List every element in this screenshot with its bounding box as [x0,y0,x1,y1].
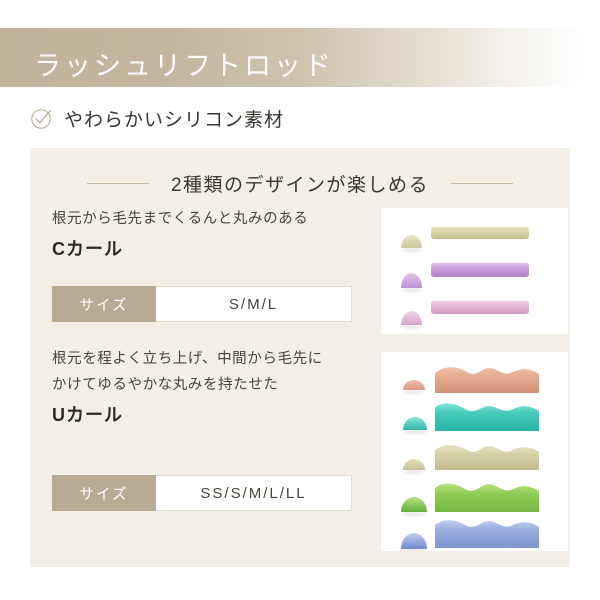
c-curl-desc-line-1: 根元から毛先までくるんと丸みのある [52,206,372,232]
shadow [401,248,423,252]
product-info-graphic: ラッシュリフトロッド やわらかいシリコン素材 2種類のデザインが楽しめる 根元か… [0,0,600,600]
section-title: 2種類のデザインが楽しめる [171,170,429,197]
shadow [401,512,427,516]
shadow [401,549,427,551]
u-curl-size-value: SS/S/M/L/LL [156,475,352,511]
blue-dome [401,533,427,549]
c-curl-size-value: S/M/L [156,286,352,322]
purple-dome [401,273,422,288]
material-label: やわらかいシリコン素材 [64,105,284,132]
teal-rod [435,401,539,431]
design-card: 2種類のデザインが楽しめる 根元から毛先までくるんと丸みのある Cカール サイズ… [30,148,570,567]
u-curl-description: 根元を程よく立ち上げ、中間から毛先に かけてゆるやかな丸みを持たせた Uカール [52,346,372,430]
shadow [403,430,427,434]
shadow [401,325,423,329]
u-curl-size-label: サイズ [52,475,156,511]
c-curl-size-table: サイズ S/M/L [52,286,352,322]
teal-dome [403,417,427,430]
khaki-dome [403,459,425,470]
shadow [401,288,423,292]
c-curl-image-panel [381,208,568,334]
c-curl-description: 根元から毛先までくるんと丸みのある Cカール [52,206,372,264]
c-curl-name: Cカール [52,234,372,264]
material-callout: やわらかいシリコン素材 [30,105,284,132]
shadow [403,390,425,394]
c-curl-size-label: サイズ [52,286,156,322]
pink-dome [401,311,422,325]
u-curl-name: Uカール [52,400,372,430]
page-title: ラッシュリフトロッド [34,44,334,83]
salmon-dome [403,380,425,390]
pink-rod [431,301,529,314]
rule-right [451,183,513,184]
circle-check-icon [30,107,53,130]
blue-rod [435,516,539,548]
green-dome [401,497,427,512]
beige-rod [431,227,529,239]
green-rod [435,480,539,512]
u-curl-desc-line-2: かけてゆるやかな丸みを持たせた [52,372,372,398]
shadow [403,470,425,474]
khaki-rod [435,442,539,470]
section-heading: 2種類のデザインが楽しめる [30,170,570,197]
u-curl-size-table: サイズ SS/S/M/L/LL [52,475,352,511]
u-curl-image-panel [381,352,568,551]
purple-rod [431,263,529,277]
u-curl-desc-line-1: 根元を程よく立ち上げ、中間から毛先に [52,346,372,372]
beige-dome [401,235,422,248]
salmon-rod [435,365,539,393]
rule-left [87,183,149,184]
